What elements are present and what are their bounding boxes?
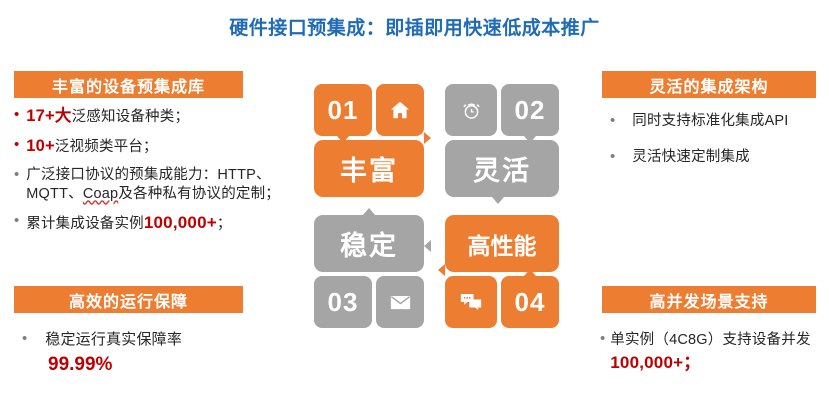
bullet-text-line2-prefix: 发 bbox=[796, 332, 811, 348]
bullet-list-ops-guarantee: • 稳定运行真实保障率 99.99% bbox=[22, 330, 284, 382]
bullet-text-line2a: MQTT、 bbox=[26, 186, 83, 202]
bullet-list-flexible-arch: • 同时支持标准化集成API • 灵活快速定制集成 bbox=[610, 112, 825, 184]
bullet-marker-icon: • bbox=[600, 330, 605, 349]
bullet-text-spellchecked: Coap bbox=[83, 186, 118, 202]
bullet-text-line1: 广泛接口协议的预集成能力：HTTP、 bbox=[26, 167, 270, 183]
list-item: • 17+大泛感知设备种类； bbox=[14, 106, 286, 127]
bullet-marker-icon: • bbox=[610, 112, 615, 131]
concurrency-value: 100,000+； bbox=[610, 353, 700, 372]
bullet-marker-icon: • bbox=[610, 148, 615, 167]
panel-header-flexible-arch: 灵活的集成架构 bbox=[602, 71, 816, 98]
slide-root: 硬件接口预集成：即插即用快速低成本推广 丰富的设备预集成库 • 17+大泛感知设… bbox=[0, 0, 829, 415]
four-quadrant-diagram: 01 丰富 02 bbox=[305, 80, 570, 320]
list-item-value: 99.99% bbox=[22, 353, 284, 377]
uptime-value: 99.99% bbox=[48, 353, 112, 377]
panel-header-rich-library: 丰富的设备预集成库 bbox=[14, 71, 243, 98]
list-item: • 稳定运行真实保障率 bbox=[22, 330, 284, 349]
bullet-list-rich-library: • 17+大泛感知设备种类； • 10+泛视频类平台； • 广泛接口协议的预集成… bbox=[14, 106, 286, 243]
bullet-text-tail: ； bbox=[217, 216, 232, 232]
bullet-highlight-value: 100,000+ bbox=[144, 213, 217, 232]
bullet-highlight-value: 17+大 bbox=[26, 107, 71, 125]
bullet-marker-icon: • bbox=[14, 166, 19, 185]
list-item: • 灵活快速定制集成 bbox=[610, 148, 825, 167]
list-item: • 累计集成设备实例100,000+； bbox=[14, 212, 286, 234]
tail-down-icon-2 bbox=[492, 197, 504, 204]
bullet-marker-icon: • bbox=[22, 330, 27, 349]
envelope-icon bbox=[376, 276, 424, 328]
list-item: • 单实例（4C8G）支持设备并发100,000+； bbox=[600, 330, 828, 376]
quadrant-number-03: 03 bbox=[314, 276, 372, 328]
panel-header-high-concurrency: 高并发场景支持 bbox=[602, 286, 816, 313]
page-title: 硬件接口预集成：即插即用快速低成本推广 bbox=[0, 13, 829, 40]
tail-up-icon bbox=[363, 208, 375, 215]
bullet-text-line1: 单实例（4C8G）支持设备并 bbox=[610, 332, 796, 348]
quadrant-number-04: 04 bbox=[501, 276, 559, 328]
bullet-marker-icon: • bbox=[14, 106, 19, 125]
list-item: • 同时支持标准化集成API bbox=[610, 112, 825, 131]
quadrant-label-rich: 丰富 bbox=[314, 140, 424, 197]
bullet-text: 同时支持标准化集成API bbox=[632, 112, 788, 131]
bullet-text: 灵活快速定制集成 bbox=[632, 148, 750, 167]
tail-up-icon bbox=[524, 269, 536, 276]
home-icon bbox=[376, 84, 424, 136]
alarm-clock-icon bbox=[445, 84, 497, 136]
bullet-text: 泛视频类平台； bbox=[55, 139, 158, 155]
quadrant-number-02: 02 bbox=[501, 84, 559, 136]
quadrant-label-performance: 高性能 bbox=[445, 215, 559, 272]
list-item: • 10+泛视频类平台； bbox=[14, 136, 286, 157]
arrow-right-icon bbox=[424, 132, 431, 144]
bullet-list-high-concurrency: • 单实例（4C8G）支持设备并发100,000+； bbox=[600, 330, 828, 385]
bullet-text: 稳定运行真实保障率 bbox=[45, 330, 182, 349]
quadrant-label-stable: 稳定 bbox=[314, 215, 424, 272]
bullet-text: 累计集成设备实例 bbox=[26, 216, 144, 232]
quadrant-number-01: 01 bbox=[314, 84, 372, 136]
panel-header-ops-guarantee: 高效的运行保障 bbox=[14, 286, 243, 313]
quadrant-label-flexible: 灵活 bbox=[445, 140, 559, 197]
bullet-highlight-value: 10+ bbox=[26, 137, 55, 155]
arrow-left-icon bbox=[424, 240, 431, 252]
bullet-text: 泛感知设备种类； bbox=[72, 109, 190, 125]
arrow-left-icon bbox=[438, 264, 445, 276]
list-item: • 广泛接口协议的预集成能力：HTTP、 MQTT、Coap及各种私有协议的定制… bbox=[14, 166, 286, 203]
bullet-marker-icon: • bbox=[14, 136, 19, 155]
bullet-text-line2c: 及各种私有协议的定制； bbox=[118, 186, 280, 202]
chat-bubbles-icon bbox=[445, 276, 497, 328]
bullet-marker-icon: • bbox=[14, 212, 19, 231]
